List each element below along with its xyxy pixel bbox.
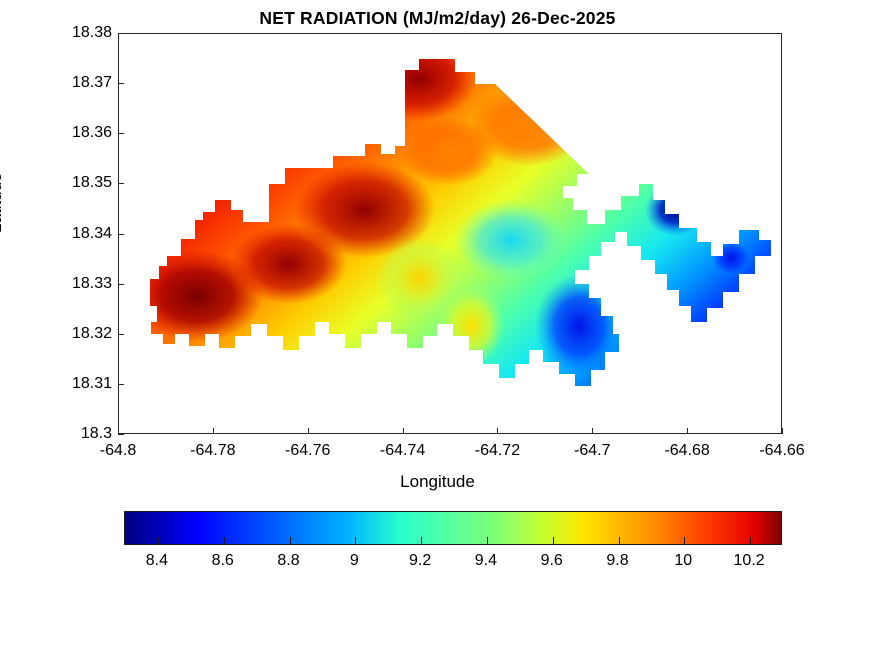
y-axis-tick (118, 434, 124, 435)
colorbar-tick-label: 9.6 (541, 552, 563, 570)
colorbar-tick-label: 9 (350, 552, 359, 570)
x-tick-label: -64.74 (380, 442, 425, 460)
x-tick-label: -64.8 (100, 442, 136, 460)
x-axis-tick (403, 428, 404, 434)
y-axis-tick (118, 284, 124, 285)
x-axis-tick (782, 428, 783, 434)
colorbar-tick-label: 8.4 (146, 552, 168, 570)
warm-north-central (401, 118, 497, 186)
figure-canvas: NET RADIATION (MJ/m2/day) 26-Dec-2025 18… (0, 0, 875, 656)
x-tick-label: -64.7 (574, 442, 610, 460)
cold-east-arm-secondary (709, 238, 753, 278)
y-axis-tick (118, 33, 124, 34)
y-tick-label: 18.33 (72, 275, 112, 293)
plot-area (118, 33, 782, 434)
x-axis-tick (687, 428, 688, 434)
colorbar-tick (421, 537, 422, 544)
y-axis-tick (118, 133, 124, 134)
y-axis-tick (118, 234, 124, 235)
x-axis-tick (118, 428, 119, 434)
colorbar-tick (619, 537, 620, 544)
colorbar-tick (290, 537, 291, 544)
y-axis-title: Latitude (0, 173, 6, 234)
colorbar-tick (158, 537, 159, 544)
y-tick-label: 18.32 (72, 325, 112, 343)
colorbar-tick (553, 537, 554, 544)
colorbar-tick (224, 537, 225, 544)
y-tick-label: 18.35 (72, 174, 112, 192)
colorbar-tick (355, 537, 356, 544)
colorbar-tick (750, 537, 751, 544)
x-axis-tick (213, 428, 214, 434)
colorbar-tick-label: 8.8 (277, 552, 299, 570)
y-tick-label: 18.31 (72, 375, 112, 393)
colorbar-tick (487, 537, 488, 544)
y-tick-label: 18.37 (72, 74, 112, 92)
cool-central-basin (455, 200, 567, 280)
x-tick-label: -64.68 (664, 442, 709, 460)
x-axis-tick (308, 428, 309, 434)
net-radiation-contour-map (119, 34, 781, 433)
chart-title: NET RADIATION (MJ/m2/day) 26-Dec-2025 (0, 8, 875, 29)
y-tick-label-group: 18.318.3118.3218.3318.3418.3518.3618.371… (0, 33, 112, 434)
y-tick-label: 18.36 (72, 124, 112, 142)
colorbar-tick-label-group: 8.48.68.899.29.49.69.81010.2 (0, 552, 875, 578)
yellow-pocket-south (437, 286, 505, 366)
colorbar-tick-label: 9.8 (606, 552, 628, 570)
contour-fill-group (119, 34, 781, 433)
x-axis-tick (497, 428, 498, 434)
y-axis-tick (118, 83, 124, 84)
y-tick-label: 18.38 (72, 24, 112, 42)
cold-south-east-lobe (535, 274, 623, 378)
colorbar-tick-label: 9.2 (409, 552, 431, 570)
x-tick-label: -64.76 (285, 442, 330, 460)
hotspot-north-finger (361, 37, 477, 121)
colorbar-tick-label: 10 (674, 552, 692, 570)
y-axis-tick (118, 183, 124, 184)
y-axis-tick (118, 384, 124, 385)
y-axis-tick (118, 334, 124, 335)
colorbar[interactable] (124, 511, 782, 545)
x-axis-title: Longitude (0, 472, 875, 492)
colorbar-tick-label: 10.2 (734, 552, 765, 570)
colorbar-tick-label: 9.4 (475, 552, 497, 570)
x-axis-tick (592, 428, 593, 434)
x-tick-label: -64.78 (190, 442, 235, 460)
cold-east-arm-minimum (645, 184, 705, 236)
x-tick-label: -64.66 (759, 442, 804, 460)
x-tick-label-group: -64.8-64.78-64.76-64.74-64.72-64.7-64.68… (0, 442, 875, 466)
y-tick-label: 18.34 (72, 225, 112, 243)
y-tick-label: 18.3 (81, 425, 112, 443)
colorbar-tick-label: 8.6 (212, 552, 234, 570)
x-tick-label: -64.72 (475, 442, 520, 460)
colorbar-tick (684, 537, 685, 544)
